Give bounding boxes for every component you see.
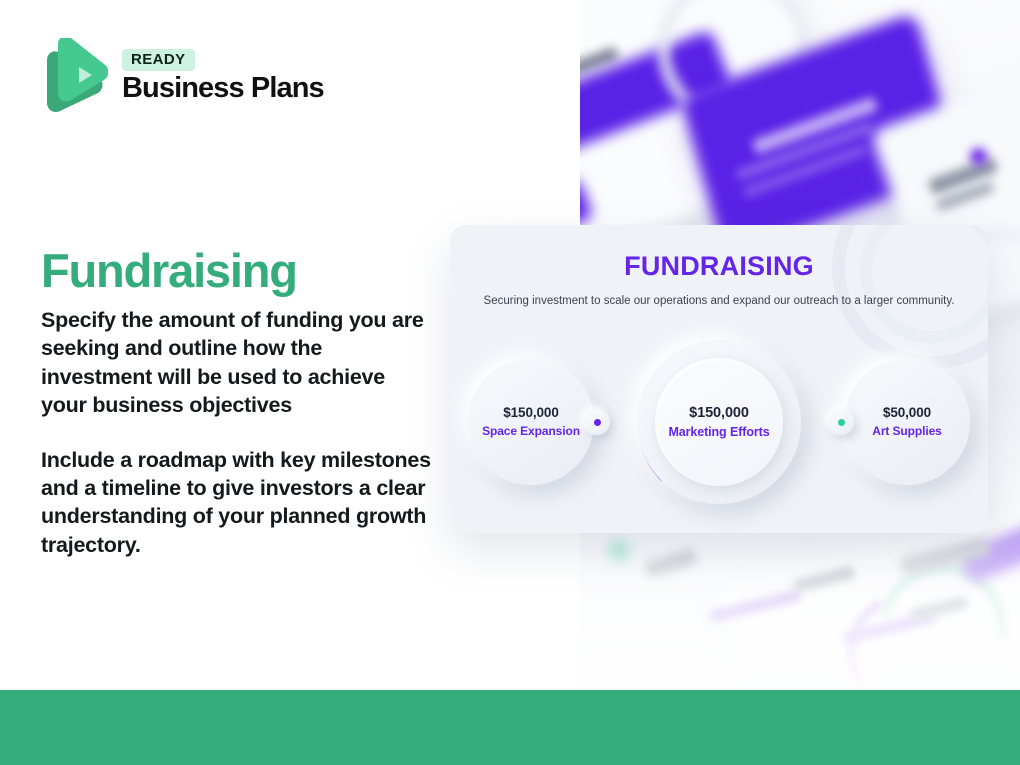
ready-badge: READY (122, 49, 195, 71)
funding-amount: $150,000 (689, 404, 749, 422)
fundraising-card: FUNDRAISING Securing investment to scale… (450, 225, 988, 533)
brand-wordmark: READY Business Plans (122, 49, 324, 103)
play-triangle-logo-icon (42, 38, 108, 114)
left-connector-dot (584, 409, 610, 435)
bg-lower-green-dot (608, 540, 630, 562)
funding-allocation-diagram: $150,000 Space Expansion $150,000 Market… (450, 353, 988, 533)
page-title: Fundraising (41, 245, 297, 297)
body-paragraph-2: Include a roadmap with key milestones an… (41, 446, 436, 560)
body-paragraph-1: Specify the amount of funding you are se… (41, 306, 436, 420)
center-node-inner: $150,000 Marketing Efforts (655, 358, 783, 486)
card-title: FUNDRAISING (450, 253, 988, 280)
funding-amount: $150,000 (503, 405, 559, 422)
brand-logo: READY Business Plans (42, 38, 324, 114)
right-connector-dot (828, 409, 854, 435)
connector-dot-glyph (838, 419, 845, 426)
slide-root: READY Business Plans Fundraising Specify… (0, 0, 1020, 765)
funding-node-art-supplies[interactable]: $50,000 Art Supplies (844, 359, 970, 485)
funding-node-space-expansion[interactable]: $150,000 Space Expansion (468, 359, 594, 485)
footer-bar (0, 690, 1020, 765)
funding-amount: $50,000 (883, 405, 931, 422)
funding-label: Marketing Efforts (668, 425, 769, 441)
bg-right-dot-1 (970, 148, 987, 165)
funding-label: Art Supplies (872, 424, 941, 439)
body-copy: Specify the amount of funding you are se… (41, 306, 436, 559)
connector-dot-glyph (594, 419, 601, 426)
funding-label: Space Expansion (482, 424, 580, 439)
card-subtitle: Securing investment to scale our operati… (450, 294, 988, 309)
brand-name: Business Plans (122, 73, 324, 103)
funding-node-marketing-efforts[interactable]: $150,000 Marketing Efforts (637, 340, 801, 504)
